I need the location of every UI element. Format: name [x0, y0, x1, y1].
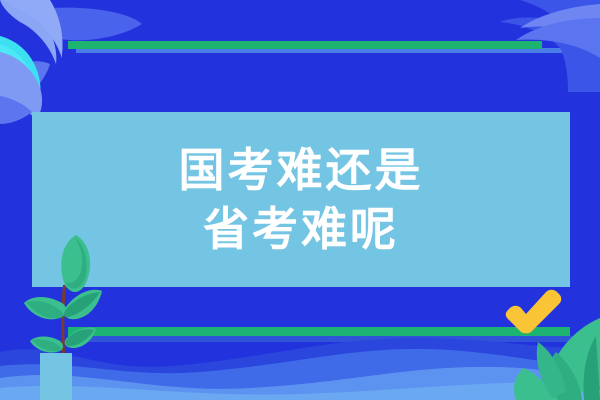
divider-green-top: [68, 41, 542, 49]
divider-green-bottom: [68, 327, 570, 336]
divider-shadow-bottom: [78, 336, 572, 342]
potted-plant-icon: [8, 225, 118, 400]
check-icon: [500, 288, 562, 334]
headline-line-1: 国考难还是: [179, 141, 424, 200]
headline-line-2: 省考难呢: [203, 200, 399, 259]
poster-canvas: 国考难还是 省考难呢: [0, 0, 600, 400]
